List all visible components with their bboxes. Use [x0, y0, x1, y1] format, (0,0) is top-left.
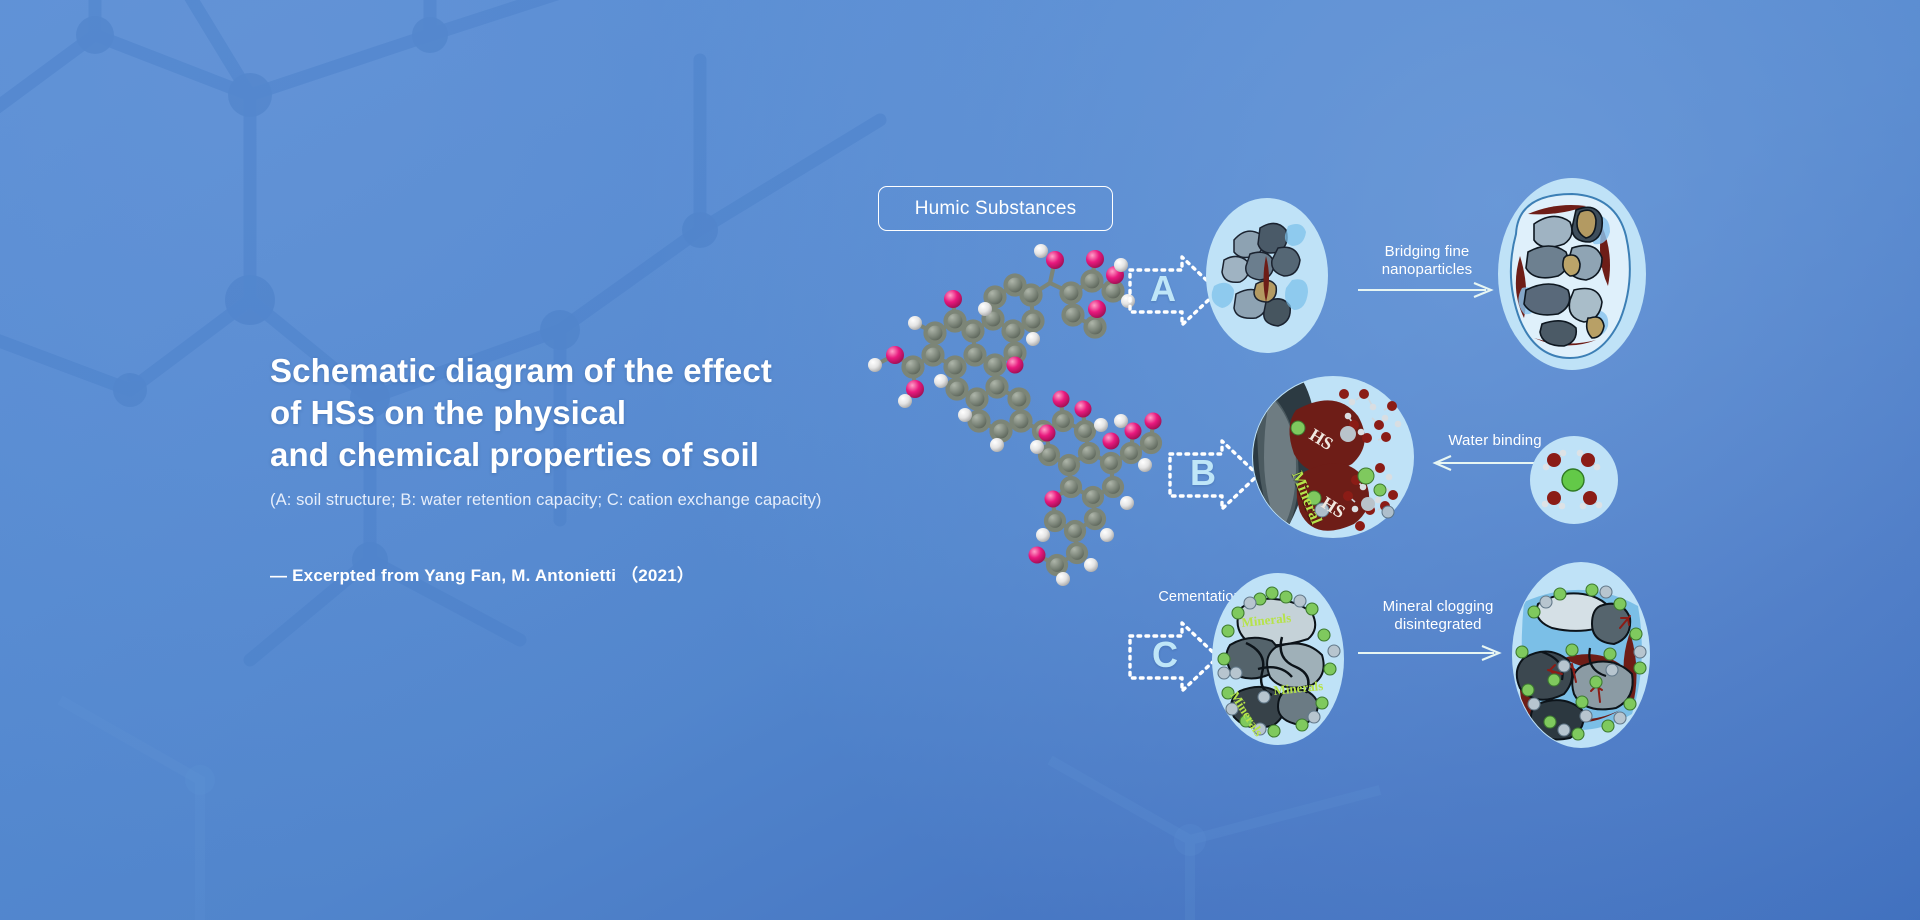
- flow-label-a: Bridging fine nanoparticles: [1352, 243, 1502, 280]
- water-retention-art: Mineral HS HS: [1252, 376, 1414, 538]
- flow-label-c: Mineral clogging disintegrated: [1358, 598, 1518, 635]
- soil-aggregate-bridged-art: [1498, 178, 1646, 370]
- soil-aggregate-loose-art: [1206, 198, 1328, 353]
- step-letter-c: C: [1152, 634, 1178, 676]
- humic-substances-label: Humic Substances: [915, 198, 1077, 220]
- flow-arrow-a: [1358, 282, 1498, 298]
- step-letter-b: B: [1190, 452, 1216, 494]
- mineral-cementation-art: Minerals Minerals Minerals: [1212, 573, 1344, 745]
- hydrated-cation-art: [1530, 436, 1618, 524]
- flow-arrow-c: [1358, 645, 1506, 661]
- step-letter-a: A: [1150, 268, 1176, 310]
- schematic-diagram: Humic Substances: [0, 0, 1920, 920]
- mineral-disintegration-art: [1512, 562, 1650, 748]
- humic-substances-badge: Humic Substances: [878, 186, 1113, 231]
